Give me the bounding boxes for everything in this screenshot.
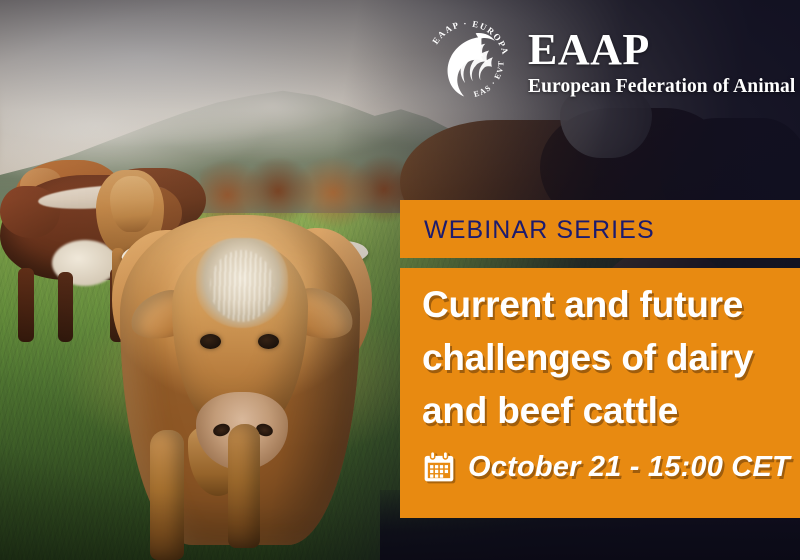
logo-text-block: EAAP European Federation of Animal Scien… xyxy=(528,28,800,97)
cow-tan-center-head xyxy=(110,176,154,232)
page-title: Current and future challenges of dairy a… xyxy=(422,278,794,437)
eaap-crest-icon: EAAP · EUROPA EAS · EVT · FEZ · xyxy=(420,14,516,110)
webinar-banner: EAAP · EUROPA EAS · EVT · FEZ · EAAP Eur… xyxy=(0,0,800,560)
eyebrow-panel: WEBINAR SERIES xyxy=(400,200,800,258)
logo-subtitle: European Federation of Animal Science xyxy=(528,77,800,97)
title-line-3: and beef cattle xyxy=(422,384,794,437)
hero-cow-leg-right xyxy=(228,424,260,548)
cow-red-left-leg-1 xyxy=(18,268,34,342)
datetime-label: October 21 - 15:00 CET xyxy=(468,451,790,484)
eaap-logo: EAAP · EUROPA EAS · EVT · FEZ · EAAP Eur… xyxy=(420,14,800,110)
hero-cow-eye-right xyxy=(258,334,279,349)
eyebrow-label: WEBINAR SERIES xyxy=(424,216,655,245)
hero-cow-eye-left xyxy=(200,334,221,349)
calendar-icon xyxy=(422,450,456,484)
logo-acronym: EAAP xyxy=(528,28,800,72)
hero-cow-forelock-texture xyxy=(210,250,274,322)
datetime-row: October 21 - 15:00 CET xyxy=(422,450,790,484)
content-panel: Current and future challenges of dairy a… xyxy=(400,268,800,518)
cow-red-left-leg-2 xyxy=(58,272,73,342)
hero-cow-leg-left xyxy=(150,430,184,560)
title-line-2: challenges of dairy xyxy=(422,331,794,384)
title-line-1: Current and future xyxy=(422,278,794,331)
